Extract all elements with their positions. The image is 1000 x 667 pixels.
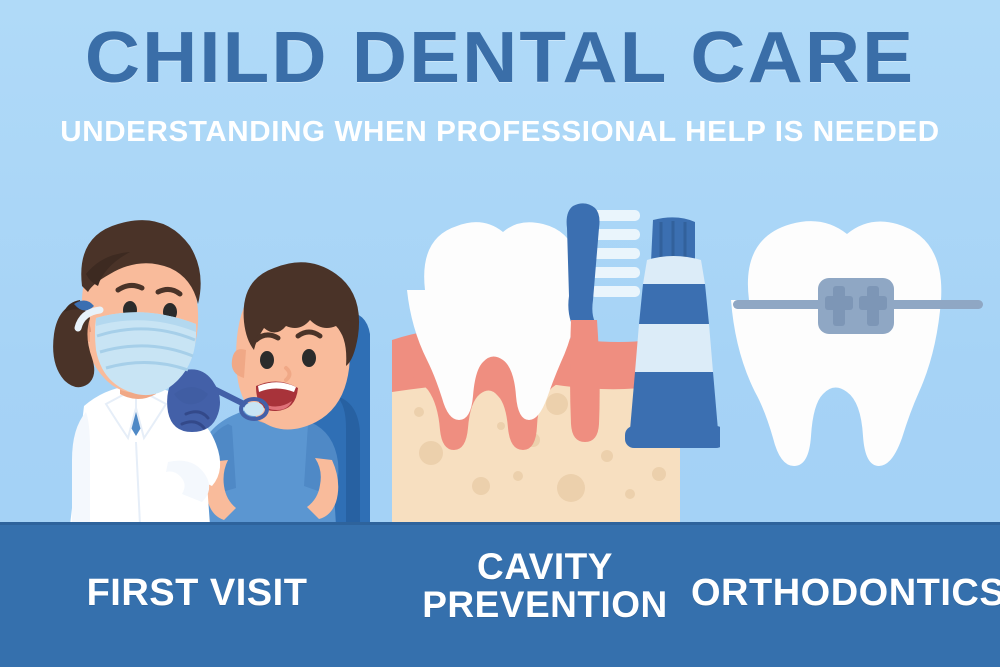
banner-label-group: FIRST VISIT CAVITY PREVENTION ORTHODONTI… bbox=[0, 522, 1000, 667]
banner-item-first-visit[interactable]: FIRST VISIT bbox=[47, 574, 347, 613]
banner-item-cavity-prevention-label-line2: PREVENTION bbox=[400, 586, 690, 624]
orthodontics-illustration bbox=[715, 200, 1000, 525]
page-title: CHILD DENTAL CARE bbox=[0, 0, 1000, 94]
first-visit-illustration bbox=[40, 200, 385, 525]
illustration-band bbox=[0, 200, 1000, 525]
banner-item-orthodontics[interactable]: ORTHODONTICS bbox=[691, 574, 991, 613]
molar-tooth-icon bbox=[731, 221, 941, 466]
banner-item-cavity-prevention-label-line1: CAVITY bbox=[477, 546, 613, 587]
dental-care-infographic-poster: CHILD DENTAL CARE UNDERSTANDING WHEN PRO… bbox=[0, 0, 1000, 667]
tooth-gum-brush-svg bbox=[385, 200, 720, 525]
banner-item-cavity-prevention[interactable]: CAVITY PREVENTION bbox=[400, 548, 690, 623]
female-dentist-icon bbox=[53, 220, 220, 525]
page-subtitle: UNDERSTANDING WHEN PROFESSIONAL HELP IS … bbox=[0, 94, 1000, 147]
banner-item-orthodontics-label: ORTHODONTICS bbox=[691, 572, 1000, 614]
category-banner: FIRST VISIT CAVITY PREVENTION ORTHODONTI… bbox=[0, 522, 1000, 667]
cavity-prevention-illustration bbox=[385, 200, 720, 525]
tooth-braces-svg bbox=[715, 200, 1000, 525]
poster-header: CHILD DENTAL CARE UNDERSTANDING WHEN PRO… bbox=[0, 0, 1000, 147]
dentist-child-svg bbox=[40, 200, 385, 525]
banner-item-first-visit-label: FIRST VISIT bbox=[87, 572, 308, 614]
orthodontic-bracket-icon bbox=[818, 278, 894, 334]
